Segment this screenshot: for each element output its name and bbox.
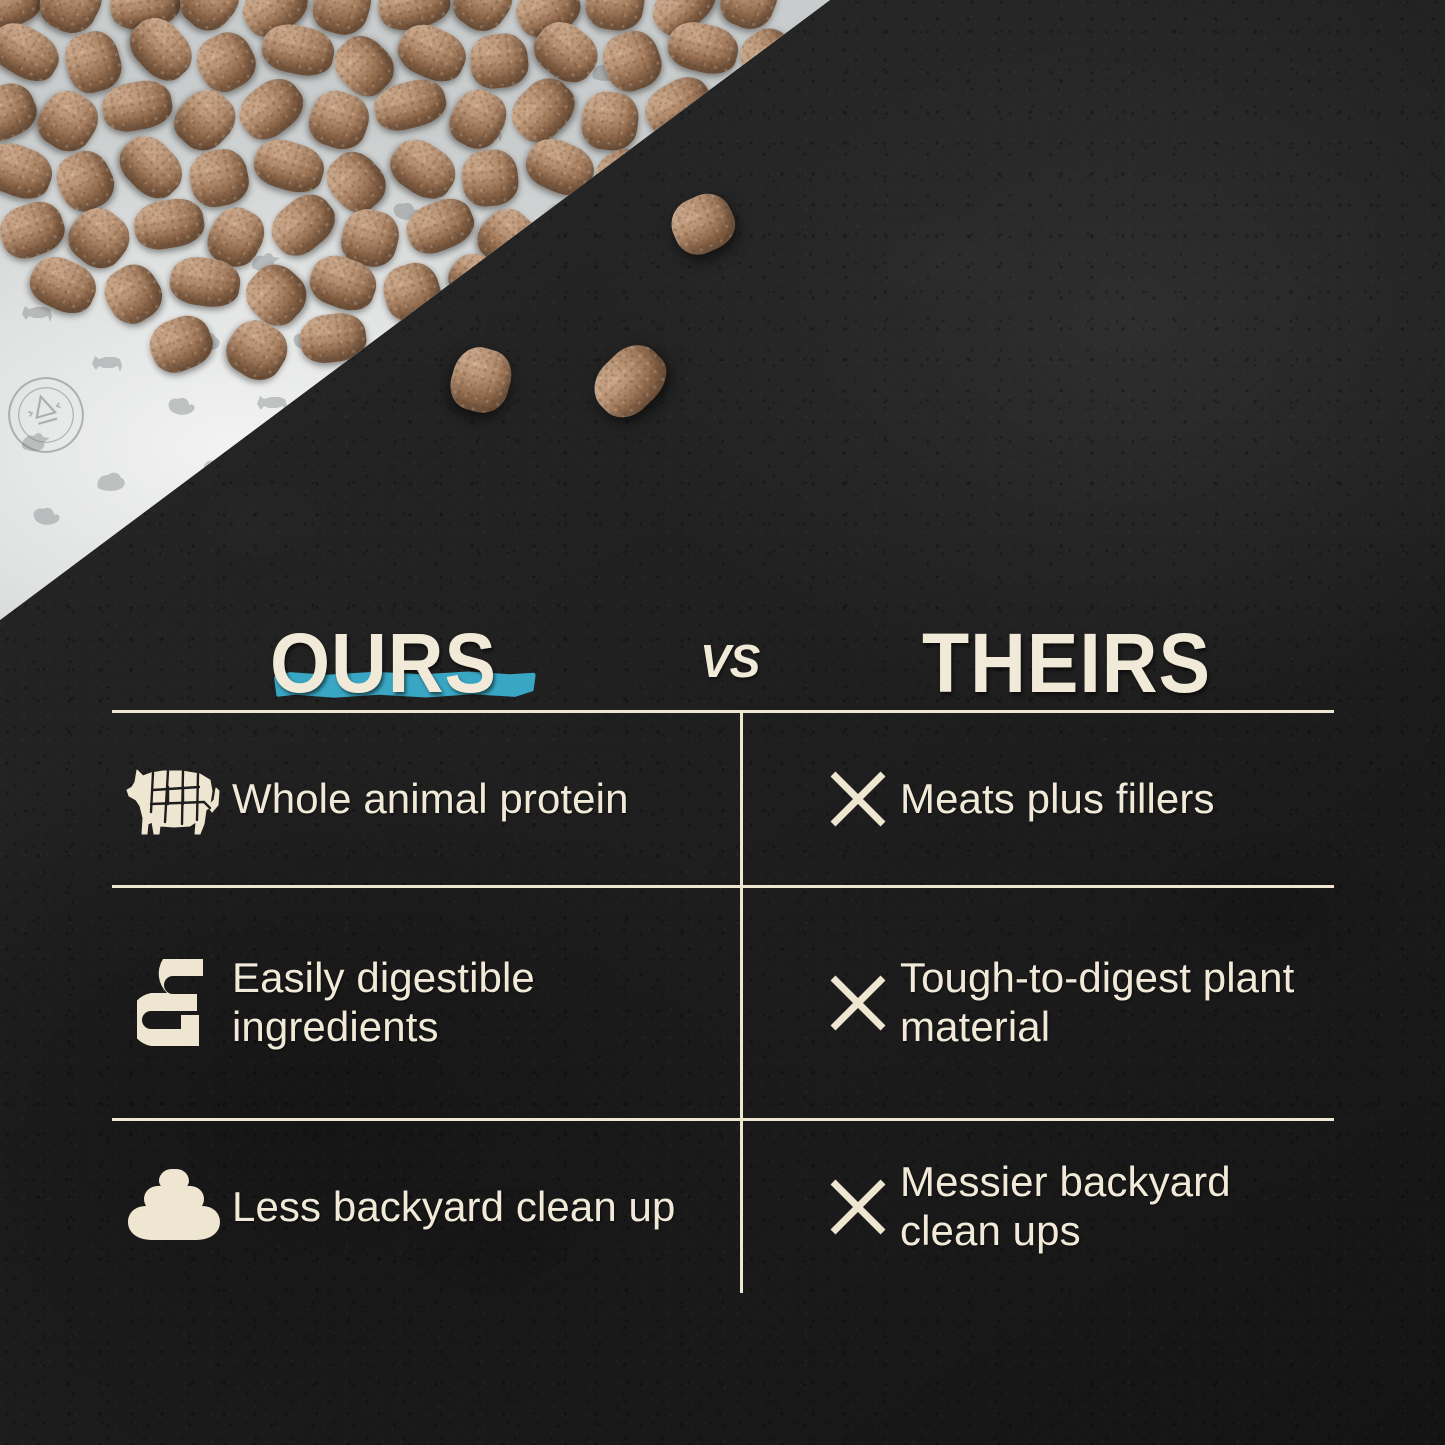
ours-label: Whole animal protein (232, 775, 629, 824)
ours-label: Less backyard clean up (232, 1183, 675, 1232)
x-mark-icon (810, 768, 906, 830)
comparison-graphic: OURS VS THEIRS (0, 0, 1445, 1445)
ours-cell: Whole animal protein (112, 713, 740, 885)
theirs-label: Messier backyard clean ups (900, 1158, 1318, 1255)
cow-butcher-chart-icon (120, 760, 232, 838)
theirs-cell: Tough-to-digest plant material (740, 888, 1334, 1118)
comparison-grid: Whole animal protein Meats plus fillers (112, 710, 1334, 1293)
x-mark-icon (810, 972, 906, 1034)
theirs-label: Meats plus fillers (900, 775, 1215, 824)
comparison-table: OURS VS THEIRS (112, 560, 1334, 1293)
column-divider (740, 713, 743, 1293)
poop-icon (120, 1165, 232, 1249)
ours-label: Easily digestible ingredients (232, 954, 710, 1051)
table-row: Less backyard clean up Messier backyard … (112, 1121, 1334, 1293)
theirs-cell: Messier backyard clean ups (740, 1121, 1334, 1293)
header-vs: VS (700, 634, 759, 688)
x-mark-icon (810, 1176, 906, 1238)
theirs-cell: Meats plus fillers (740, 713, 1334, 885)
header-ours: OURS (270, 624, 497, 704)
theirs-label: Tough-to-digest plant material (900, 954, 1318, 1051)
ours-cell: Less backyard clean up (112, 1121, 740, 1293)
intestine-digestion-icon (120, 955, 232, 1051)
table-row: Easily digestible ingredients Tough-to-d… (112, 888, 1334, 1121)
comparison-headers: OURS VS THEIRS (112, 560, 1334, 710)
ours-cell: Easily digestible ingredients (112, 888, 740, 1118)
header-theirs: THEIRS (922, 624, 1211, 704)
table-row: Whole animal protein Meats plus fillers (112, 713, 1334, 888)
